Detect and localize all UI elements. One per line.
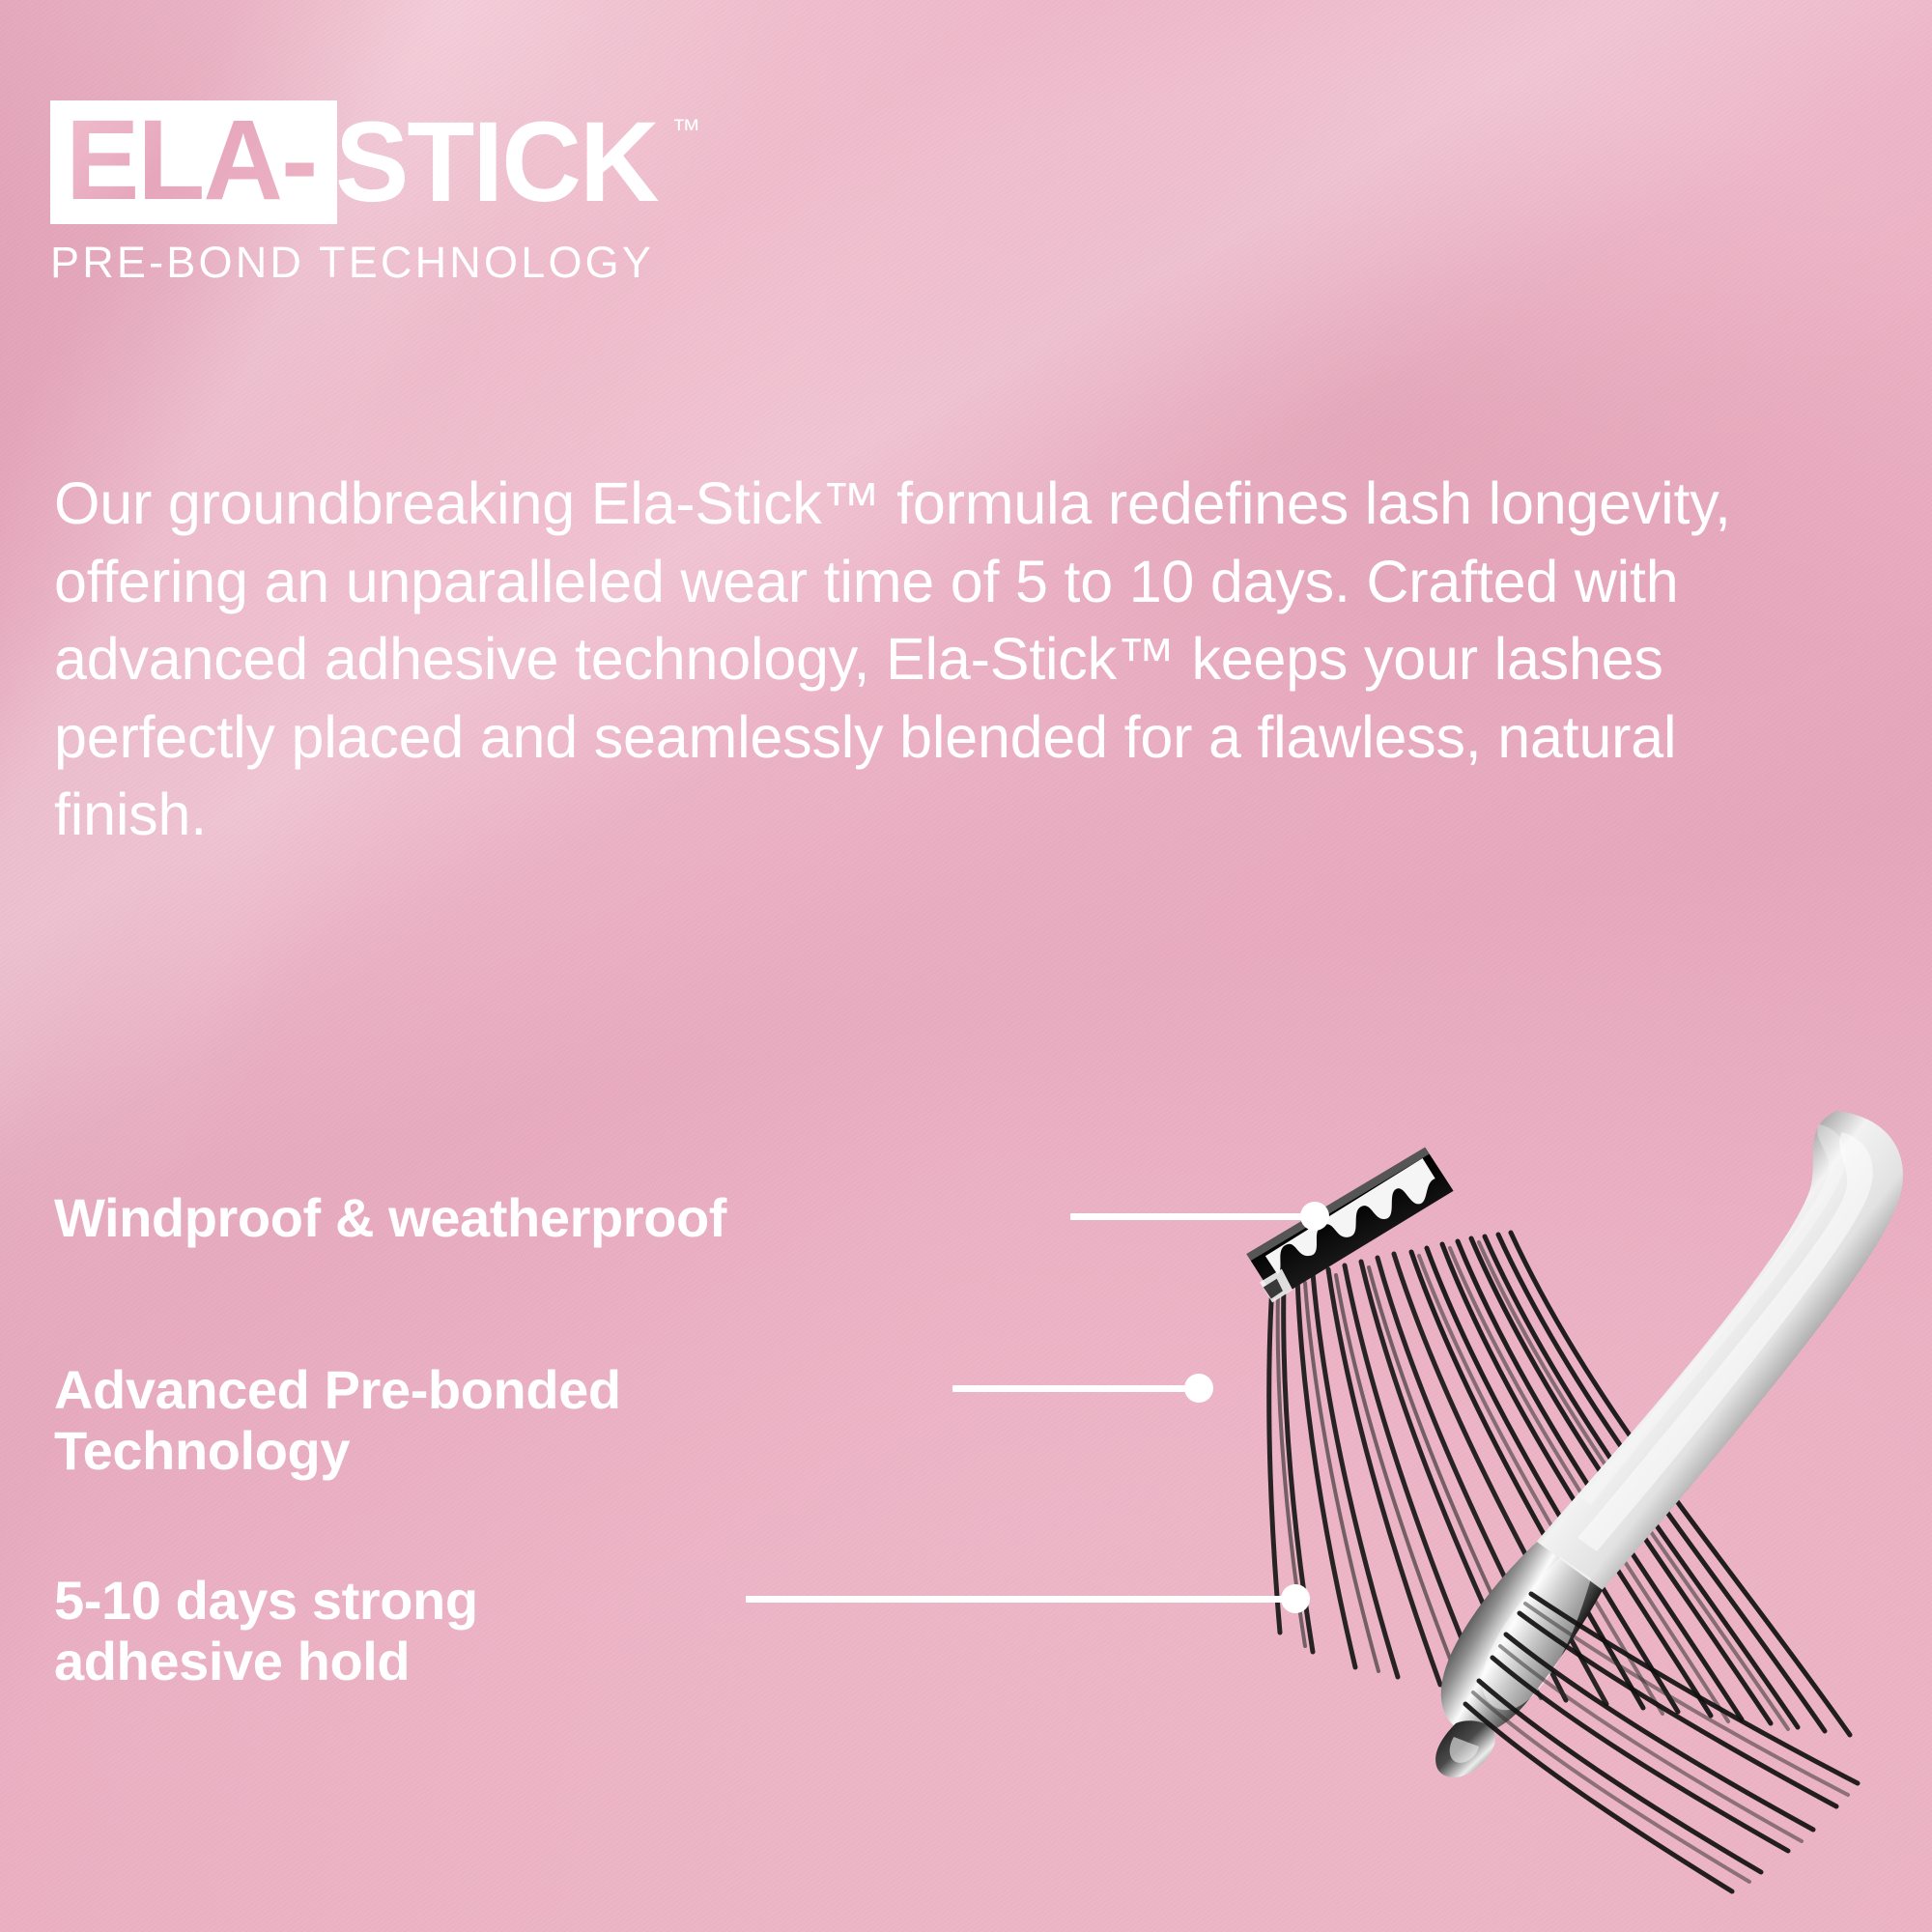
logo-stick-wrap: STICK ™ xyxy=(337,100,700,224)
poster-content: ELA- STICK ™ PRE-BOND TECHNOLOGY Our gro… xyxy=(0,0,1932,1932)
logo-text-stick: STICK xyxy=(335,100,658,224)
feature-label: Advanced Pre-bonded Technology xyxy=(54,1360,621,1481)
feature-connector-line xyxy=(1070,1202,1329,1231)
logo-white-plate: ELA- xyxy=(50,100,337,224)
logo-text-ela: ELA- xyxy=(66,103,316,221)
feature-label: Windproof & weatherproof xyxy=(54,1188,726,1249)
connector-dot xyxy=(1281,1584,1310,1613)
connector-stem xyxy=(746,1596,1283,1603)
brand-logo-lockup: ELA- STICK ™ xyxy=(50,100,700,224)
feature-connector-line xyxy=(952,1374,1213,1403)
poster-canvas: ELA- STICK ™ PRE-BOND TECHNOLOGY Our gro… xyxy=(0,0,1932,1932)
feature-label: 5-10 days strong adhesive hold xyxy=(54,1571,478,1691)
connector-stem xyxy=(1070,1213,1302,1220)
connector-dot xyxy=(1184,1374,1213,1403)
brand-logo-block: ELA- STICK ™ PRE-BOND TECHNOLOGY xyxy=(50,100,700,285)
body-paragraph: Our groundbreaking Ela-Stick™ formula re… xyxy=(54,465,1822,854)
trademark-icon: ™ xyxy=(671,116,700,145)
brand-subtitle: PRE-BOND TECHNOLOGY xyxy=(50,240,700,285)
connector-stem xyxy=(952,1385,1186,1392)
connector-dot xyxy=(1300,1202,1329,1231)
feature-connector-line xyxy=(746,1584,1310,1613)
